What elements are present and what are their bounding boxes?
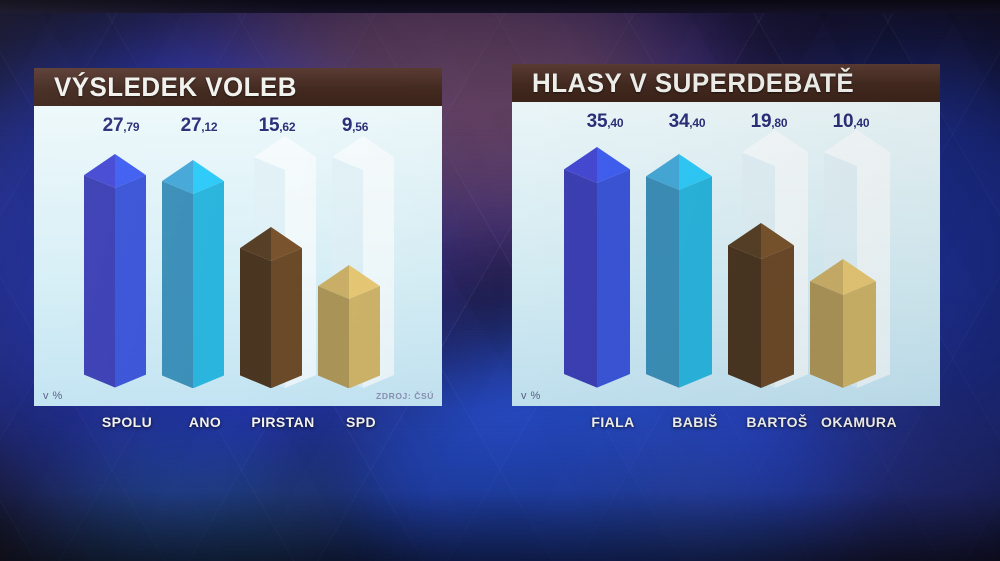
category-label: ANO	[189, 414, 221, 430]
chart-panel-superdebate-votes: HLASY V SUPERDEBATĚ	[512, 64, 940, 406]
bar-spd	[318, 265, 380, 388]
category-label: OKAMURA	[821, 414, 897, 430]
value-label: 15,62	[259, 116, 296, 135]
bar-group-right	[512, 102, 940, 406]
bar-bartoš	[728, 223, 794, 388]
bar-spolu	[84, 154, 146, 388]
value-decimal: ,40	[853, 116, 869, 130]
bar-okamura	[810, 259, 876, 388]
value-integer: 27	[103, 115, 124, 136]
value-label: 34,40	[669, 112, 706, 131]
value-decimal: ,40	[607, 116, 623, 130]
chart-panel-election-result: VÝSLEDEK VOLEB	[34, 68, 442, 406]
value-decimal: ,40	[689, 116, 705, 130]
value-label: 27,12	[181, 116, 218, 135]
category-label-group-right: FIALABABIŠBARTOŠOKAMURA	[512, 414, 940, 438]
category-label: BABIŠ	[672, 414, 718, 430]
category-label: PIRSTAN	[251, 414, 314, 430]
value-decimal: ,80	[771, 116, 787, 130]
category-label: BARTOŠ	[746, 414, 807, 430]
value-decimal: ,79	[123, 120, 139, 134]
category-label: FIALA	[591, 414, 634, 430]
value-integer: 9	[342, 115, 352, 136]
bar-chart-right: 35,4034,4019,8010,40 v %	[512, 102, 940, 406]
stage-floor-shadow	[0, 491, 1000, 561]
panel-body-right: 35,4034,4019,8010,40 v %	[512, 102, 940, 406]
value-label-group-right: 35,4034,4019,8010,40	[512, 108, 940, 134]
bar-group-left	[34, 106, 442, 406]
category-label-group-left: SPOLUANOPIRSTANSPD	[34, 414, 442, 438]
bar-pirstan	[240, 227, 302, 388]
screen-top-edge	[0, 0, 1000, 13]
value-decimal: ,56	[352, 120, 368, 134]
value-label-group-left: 27,7927,1215,629,56	[34, 112, 442, 138]
value-decimal: ,62	[279, 120, 295, 134]
panel-header-right: HLASY V SUPERDEBATĚ	[512, 64, 940, 102]
value-integer: 15	[259, 115, 280, 136]
panel-title-left: VÝSLEDEK VOLEB	[54, 72, 297, 103]
value-label: 19,80	[751, 112, 788, 131]
bar-fiala	[564, 147, 630, 388]
axis-unit-right: v %	[521, 390, 541, 402]
value-integer: 19	[751, 111, 772, 132]
value-label: 35,40	[587, 112, 624, 131]
value-label: 10,40	[833, 112, 870, 131]
value-integer: 34	[669, 111, 690, 132]
bar-ano	[162, 160, 224, 388]
panel-body-left: 27,7927,1215,629,56 v % ZDROJ: ČSÚ	[34, 106, 442, 406]
value-label: 27,79	[103, 116, 140, 135]
value-label: 9,56	[342, 116, 368, 135]
category-label: SPOLU	[102, 414, 152, 430]
bar-chart-left: 27,7927,1215,629,56 v % ZDROJ: ČSÚ	[34, 106, 442, 406]
panel-title-right: HLASY V SUPERDEBATĚ	[532, 68, 854, 99]
source-note-left: ZDROJ: ČSÚ	[376, 391, 434, 401]
category-label: SPD	[346, 414, 376, 430]
studio-stage: VÝSLEDEK VOLEB	[0, 0, 1000, 561]
bar-babiš	[646, 154, 712, 388]
value-integer: 27	[181, 115, 202, 136]
value-integer: 10	[833, 111, 854, 132]
panel-header-left: VÝSLEDEK VOLEB	[34, 68, 442, 106]
axis-unit-left: v %	[43, 390, 63, 402]
value-integer: 35	[587, 111, 608, 132]
value-decimal: ,12	[201, 120, 217, 134]
